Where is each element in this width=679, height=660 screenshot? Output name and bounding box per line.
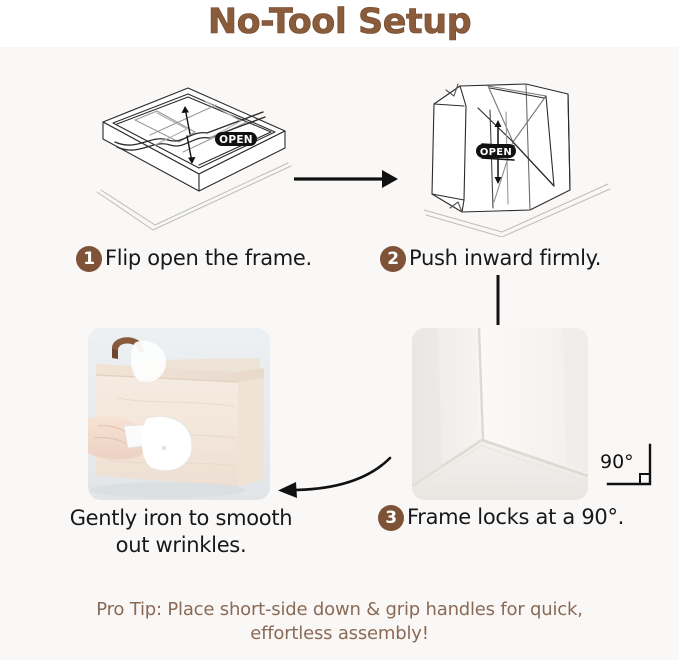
pro-tip: Pro Tip: Place short-side down & grip ha…: [0, 598, 679, 646]
iron-step-photo: [88, 328, 270, 500]
partially-open-frame-line-drawing: OPEN: [418, 82, 618, 237]
step2-illustration: OPEN: [418, 82, 618, 237]
iron-caption-line1: Gently iron to smooth: [56, 505, 306, 532]
step2-badge: 2: [380, 246, 406, 272]
step1-illustration: OPEN: [95, 82, 305, 237]
header-bar: No-Tool Setup: [0, 0, 679, 47]
step3-caption: 3 Frame locks at a 90°.: [378, 505, 624, 531]
infographic-page: No-Tool Setup: [0, 0, 679, 660]
step1-caption: 1 Flip open the frame.: [76, 246, 312, 272]
step1-badge: 1: [76, 246, 102, 272]
arrow-step1-to-step2: [292, 166, 402, 192]
right-angle-icon: [600, 443, 662, 491]
frame-corner-photo: [412, 328, 588, 500]
step3-badge: 3: [378, 505, 404, 531]
iron-caption-line2: out wrinkles.: [56, 532, 306, 559]
folded-frame-line-drawing: OPEN: [95, 82, 305, 237]
page-title: No-Tool Setup: [208, 5, 471, 40]
step2-caption: 2 Push inward firmly.: [380, 246, 601, 272]
open-tag-step1: OPEN: [215, 132, 257, 146]
step1-caption-text: Flip open the frame.: [105, 246, 312, 270]
svg-text:OPEN: OPEN: [480, 147, 512, 158]
pro-tip-line1: Pro Tip: Place short-side down & grip ha…: [0, 598, 679, 622]
hand-steamer-on-basket-photo: [88, 328, 270, 500]
angle-marker: 90°: [600, 443, 662, 491]
step2-caption-text: Push inward firmly.: [409, 246, 601, 270]
iron-step-caption: Gently iron to smooth out wrinkles.: [56, 505, 306, 559]
open-tag-step2: OPEN: [476, 144, 516, 158]
arrow-step3-to-iron: [272, 442, 402, 504]
pro-tip-line2: effortless assembly!: [0, 622, 679, 646]
svg-text:OPEN: OPEN: [219, 134, 253, 146]
line-step2-to-step3: [494, 275, 502, 327]
step3-caption-text: Frame locks at a 90°.: [407, 505, 624, 529]
corner-closeup-photo: [412, 328, 588, 500]
